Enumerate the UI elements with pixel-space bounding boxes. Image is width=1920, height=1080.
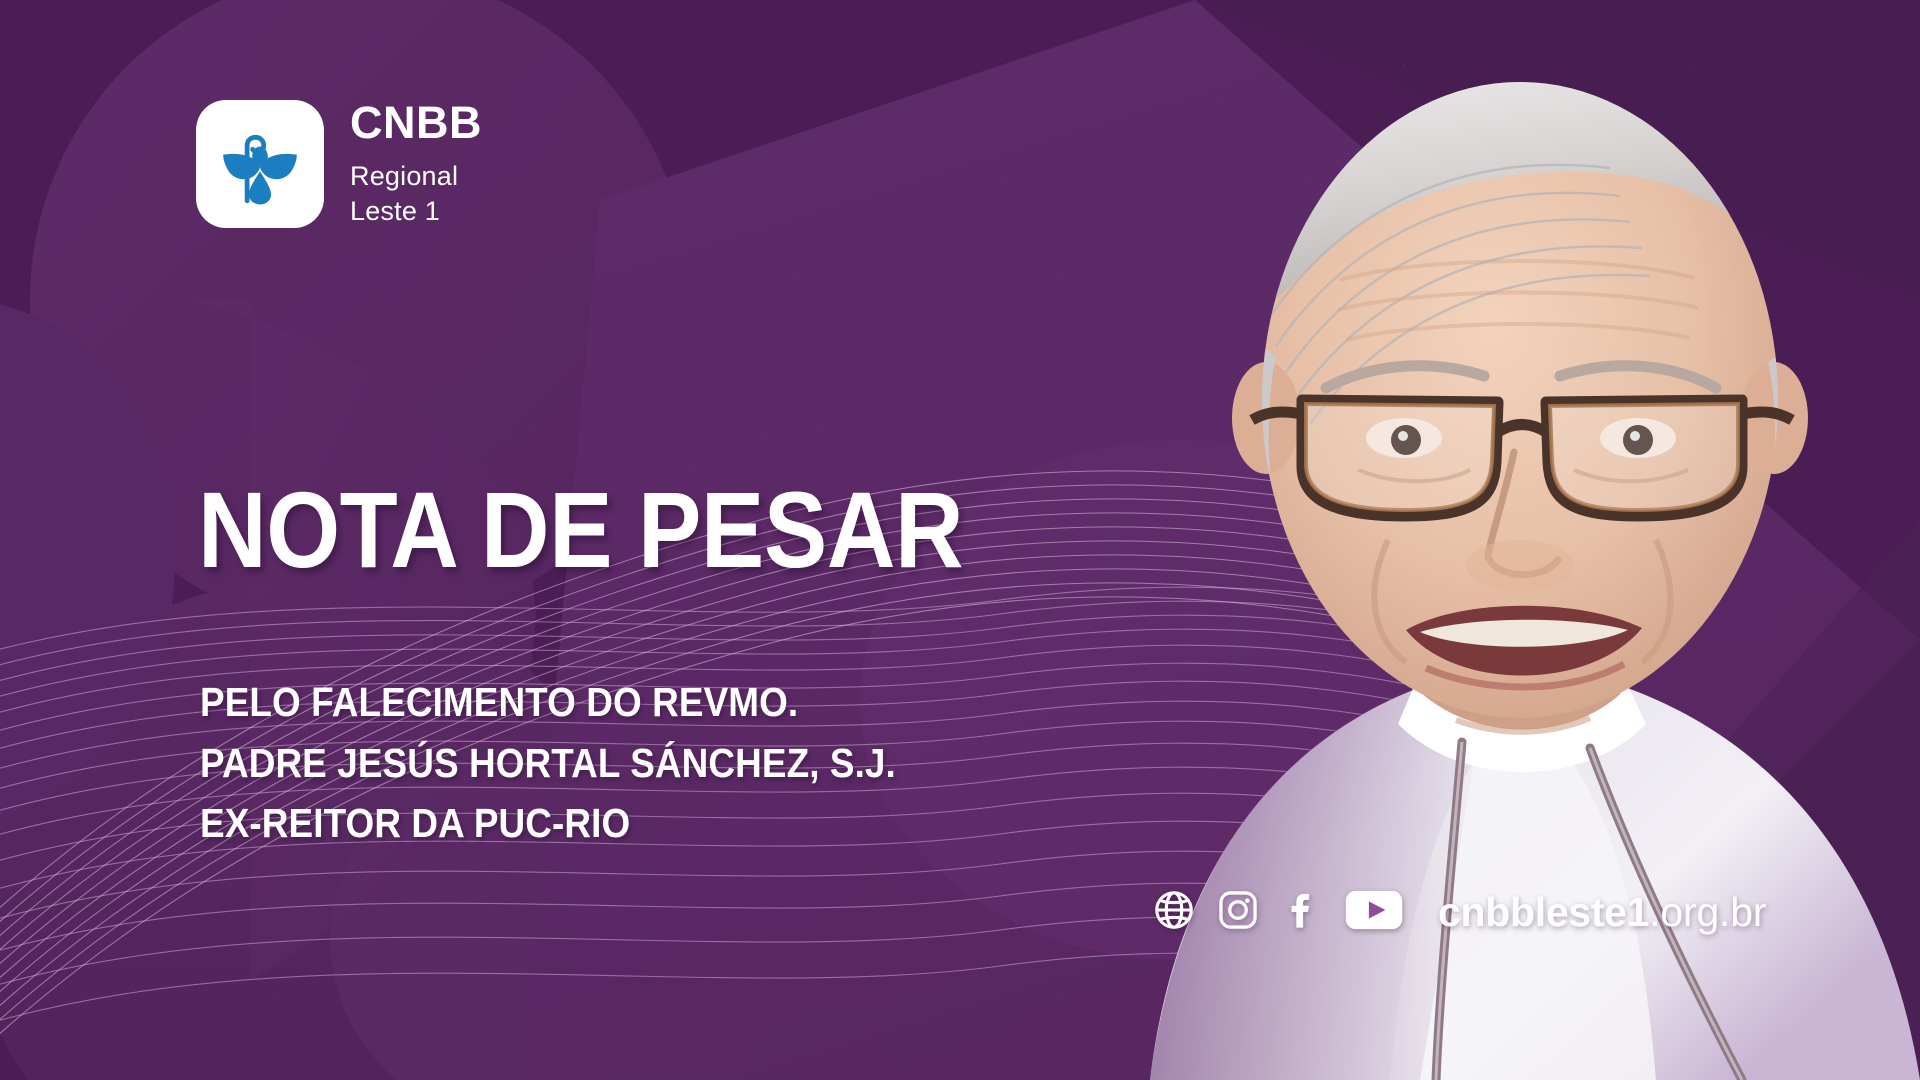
social-icon-row: [1152, 888, 1404, 937]
subtitle-block: PELO FALECIMENTO DO REVMO. PADRE JESÚS H…: [200, 672, 896, 854]
subtitle-line-1: PELO FALECIMENTO DO REVMO.: [200, 672, 896, 733]
brand-region-line2: Leste 1: [350, 194, 482, 229]
website-url[interactable]: cnbbleste1.org.br: [1438, 892, 1766, 933]
subtitle-line-2: PADRE JESÚS HORTAL SÁNCHEZ, S.J.: [200, 733, 896, 794]
brand-region: Regional Leste 1: [350, 159, 482, 228]
globe-icon[interactable]: [1152, 888, 1196, 937]
website-url-tld: .org.br: [1649, 889, 1766, 935]
website-url-domain: cnbbleste1: [1438, 889, 1649, 935]
poster-canvas: CNBB Regional Leste 1 NOTA DE PESAR PELO…: [0, 0, 1920, 1080]
brand-name: CNBB: [350, 100, 482, 145]
subtitle-line-3: EX-REITOR DA PUC-RIO: [200, 793, 896, 854]
instagram-icon[interactable]: [1216, 888, 1260, 937]
cnbb-logo-text: CNBB Regional Leste 1: [350, 100, 482, 228]
cnbb-logo-block: CNBB Regional Leste 1: [196, 100, 482, 228]
cnbb-dove-crosier-icon: [196, 100, 324, 228]
footer-bar: cnbbleste1.org.br: [1152, 888, 1766, 937]
brand-region-line1: Regional: [350, 159, 482, 194]
facebook-icon[interactable]: [1280, 888, 1324, 937]
headline-title: NOTA DE PESAR: [198, 478, 963, 582]
youtube-icon[interactable]: [1344, 888, 1404, 937]
